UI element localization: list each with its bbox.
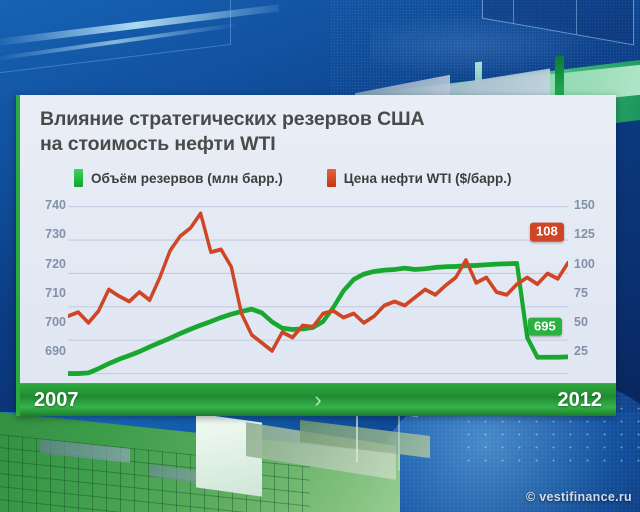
watermark: © vestifinance.ru: [526, 490, 632, 504]
right-axis-tick: 75: [574, 286, 588, 300]
legend-item-oil-price: Цена нефти WTI ($/барр.): [327, 169, 512, 187]
window-mullion-2: [398, 409, 444, 482]
chart-svg: [68, 193, 568, 383]
right-axis-tick: 125: [574, 227, 595, 241]
year-end: 2012: [558, 389, 603, 412]
right-axis-tick: 25: [574, 344, 588, 358]
axis-left: 740730720710700690: [22, 193, 66, 383]
page-title: Влияние стратегических резервов США на с…: [20, 95, 616, 161]
year-range-bar: 2007 › 2012: [20, 383, 616, 416]
plot-canvas: [68, 193, 568, 383]
left-axis-tick: 710: [45, 286, 66, 300]
title-line-2: на стоимость нефти WTI: [40, 132, 616, 157]
legend-swatch-red-icon: [327, 169, 336, 187]
green-post: [555, 55, 564, 96]
title-line-1: Влияние стратегических резервов США: [40, 108, 425, 130]
legend-swatch-green-icon: [74, 169, 83, 187]
legend-item-reserves: Объём резервов (млн барр.): [74, 169, 283, 187]
chart-legend: Объём резервов (млн барр.) Цена нефти WT…: [20, 161, 616, 191]
right-axis-tick: 50: [574, 315, 588, 329]
legend-label-reserves: Объём резервов (млн барр.): [91, 171, 283, 186]
right-axis-tick: 100: [574, 257, 595, 271]
left-axis-tick: 740: [45, 198, 66, 212]
callout-reserves: 695: [528, 317, 562, 336]
right-axis-tick: 150: [574, 198, 595, 212]
left-axis-tick: 690: [45, 344, 66, 358]
left-axis-tick: 730: [45, 227, 66, 241]
legend-label-oil-price: Цена нефти WTI ($/барр.): [344, 171, 512, 186]
axis-right: 150125100755025: [570, 193, 614, 383]
series-line-oil-price: [68, 214, 568, 351]
left-axis-tick: 720: [45, 257, 66, 271]
plot-area: 740730720710700690 150125100755025 108 6…: [20, 193, 616, 383]
callout-oil-price: 108: [530, 223, 564, 242]
left-axis-tick: 700: [45, 315, 66, 329]
year-start: 2007: [34, 389, 79, 412]
chart-card: Влияние стратегических резервов США на с…: [16, 95, 616, 416]
chevron-right-icon: ›: [314, 389, 321, 411]
